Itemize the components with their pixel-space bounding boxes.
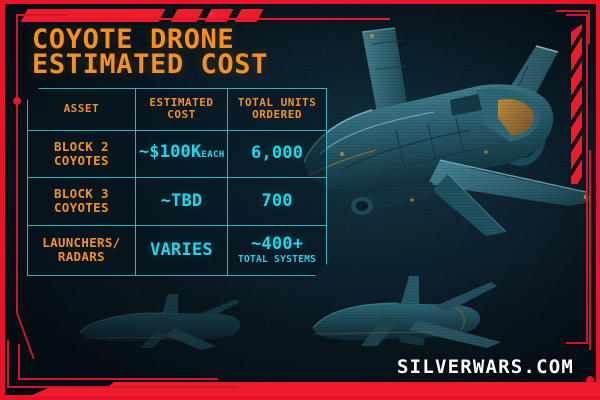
asset-label-line2: COYOTES xyxy=(31,154,132,168)
corner-bracket-bottom-left-inner xyxy=(18,344,218,380)
table-row: BLOCK 3 COYOTES ~TBD 700 xyxy=(28,178,326,226)
top-node-dot xyxy=(209,11,216,18)
left-node-dot xyxy=(13,97,21,105)
table-row: LAUNCHERS/ RADARS VARIES ~400+ TOTAL SYS… xyxy=(28,225,326,275)
top-hairline xyxy=(60,18,390,20)
asset-label-line2: COYOTES xyxy=(31,201,132,215)
asset-label-line1: LAUNCHERS/ xyxy=(31,236,132,250)
units-value: 700 xyxy=(231,192,323,211)
row-asset-block2: BLOCK 2 COYOTES xyxy=(28,130,135,178)
table-header-asset: ASSET xyxy=(28,89,135,130)
cost-suffix: EACH xyxy=(201,150,224,160)
site-watermark: SILVERWARS.COM xyxy=(397,356,574,378)
bottom-red-band-secondary xyxy=(0,388,600,396)
row-cost-block2: ~$100KEACH xyxy=(135,130,227,178)
right-accent-bar-hatch xyxy=(571,24,582,184)
row-asset-block3: BLOCK 3 COYOTES xyxy=(28,178,135,226)
row-units-block3: 700 xyxy=(228,178,326,226)
row-units-launchers: ~400+ TOTAL SYSTEMS xyxy=(228,225,326,275)
cost-value: ~$100KEACH xyxy=(139,143,224,165)
units-value: 6,000 xyxy=(231,144,323,163)
left-bracket-top xyxy=(16,14,68,16)
table-header-row: ASSET ESTIMATED COST TOTAL UNITS ORDERED xyxy=(28,89,326,130)
row-cost-block3: ~TBD xyxy=(135,178,227,226)
table-row: BLOCK 2 COYOTES ~$100KEACH 6,000 xyxy=(28,130,326,178)
header-label-cost-line2: COST xyxy=(139,109,224,121)
row-units-block2: 6,000 xyxy=(228,130,326,178)
units-subtext: TOTAL SYSTEMS xyxy=(231,254,323,265)
cost-amount: ~$100K xyxy=(139,142,202,162)
asset-label-line2: RADARS xyxy=(31,250,132,264)
asset-label-line1: BLOCK 3 xyxy=(31,187,132,201)
page-title: COYOTE DRONE ESTIMATED COST xyxy=(32,27,268,77)
table-header-units: TOTAL UNITS ORDERED xyxy=(228,89,326,130)
row-cost-launchers: VARIES xyxy=(135,225,227,275)
header-label-asset: ASSET xyxy=(31,103,132,115)
asset-label-line1: BLOCK 2 xyxy=(31,140,132,154)
left-bracket-line xyxy=(16,14,18,314)
infographic-poster: COYOTE DRONE ESTIMATED COST ASSET ESTIMA… xyxy=(0,0,600,400)
row-asset-launchers: LAUNCHERS/ RADARS xyxy=(28,225,135,275)
table-header-cost: ESTIMATED COST xyxy=(135,89,227,130)
cost-value: VARIES xyxy=(139,241,224,260)
cost-value: ~TBD xyxy=(139,192,224,211)
header-label-units-line2: ORDERED xyxy=(231,109,323,121)
units-value: ~400+ xyxy=(231,235,323,254)
right-bracket-line xyxy=(589,150,591,350)
cost-table: ASSET ESTIMATED COST TOTAL UNITS ORDERED… xyxy=(27,88,327,276)
